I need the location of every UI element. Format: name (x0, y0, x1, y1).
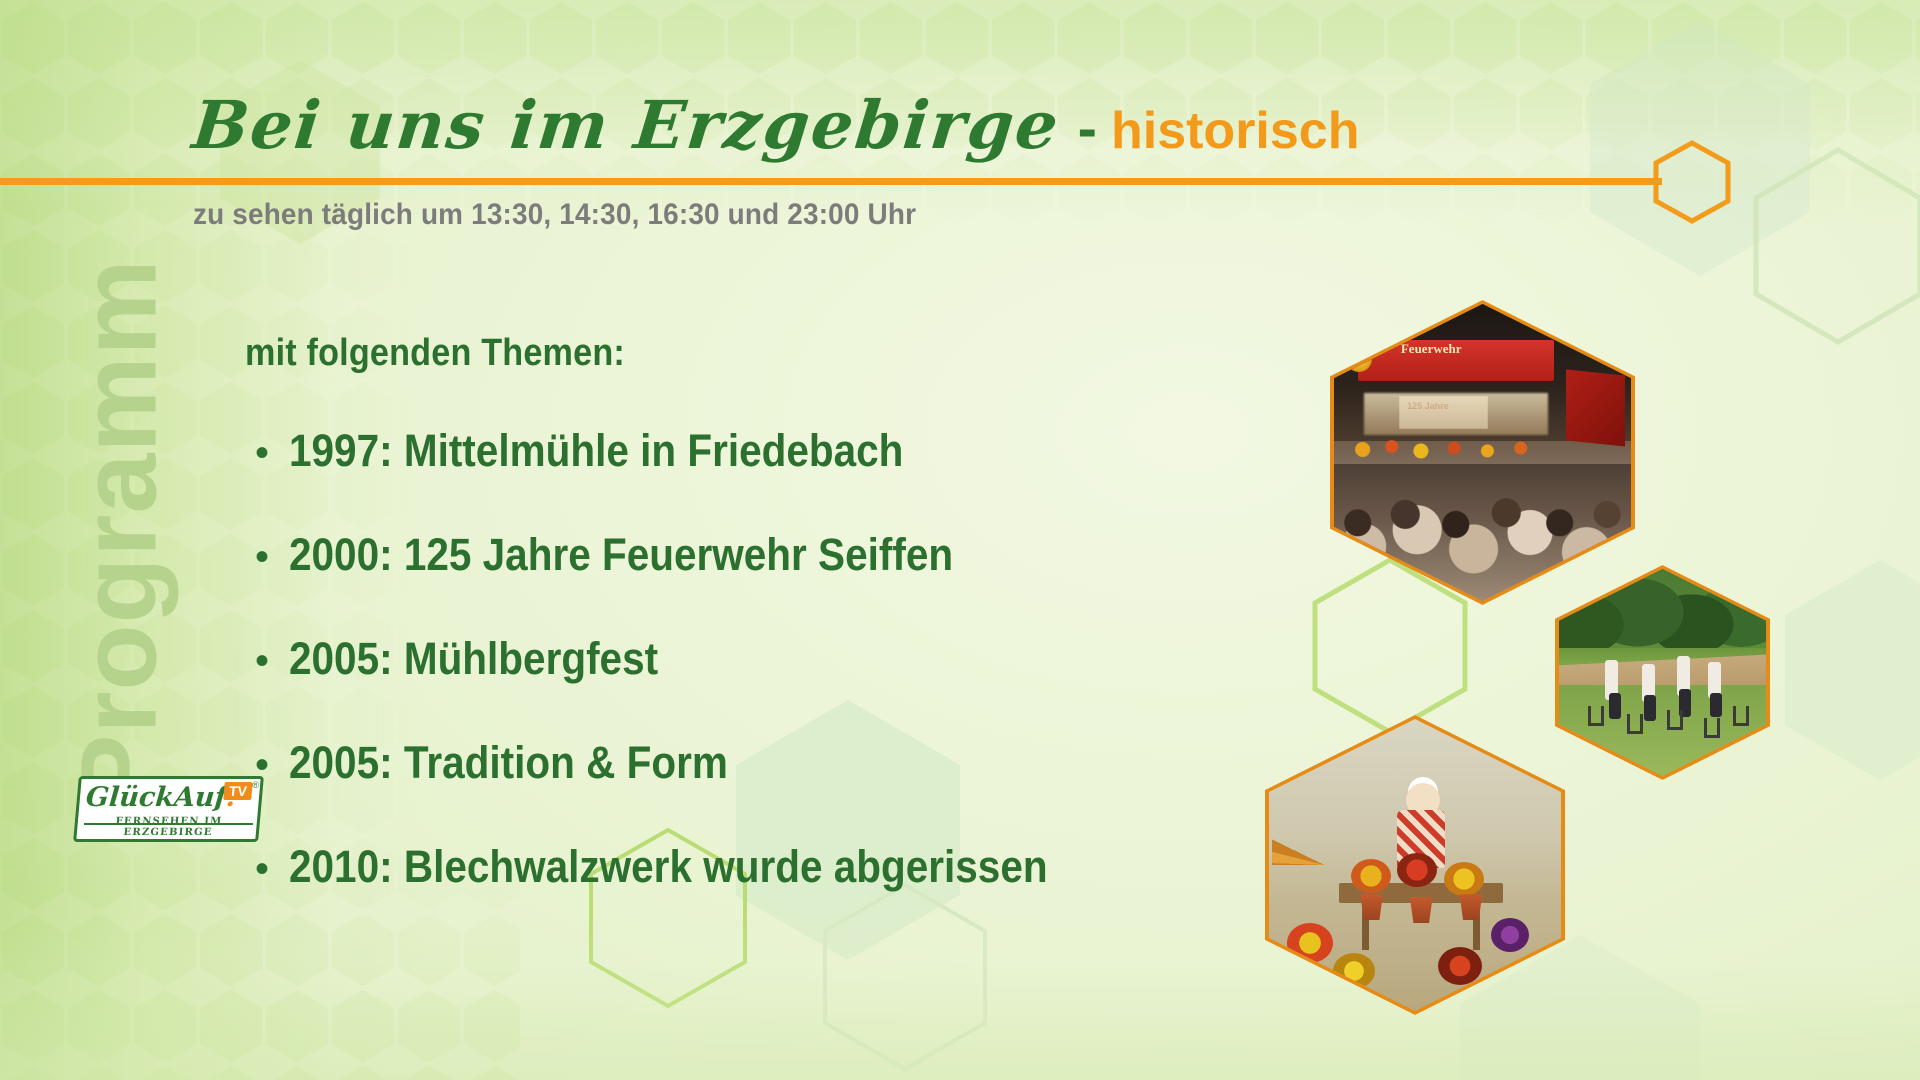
list-item: • 2010: Blechwalzwerk wurde abgerissen (255, 841, 1305, 945)
logo-tagline: FERNSEHEN IM ERZGEBIRGE (75, 816, 262, 838)
photo-banner-text: Feuerwehr (1401, 341, 1462, 357)
list-item: • 2005: Mühlbergfest (255, 633, 1305, 737)
photo-craft-flowers (1265, 715, 1565, 1015)
logo-word-glueck: GlückAuf (85, 782, 228, 813)
topics-list: • 1997: Mittelmühle in Friedebach • 2000… (255, 425, 1305, 945)
photo-outdoor-dancers (1555, 565, 1770, 780)
title-dash: - (1060, 95, 1111, 162)
photo-feuerwehr-hall: Feuerwehr 125 Jahre (1330, 300, 1635, 605)
channel-logo[interactable]: GlückAuf! TV ® FERNSEHEN IM ERZGEBIRGE (76, 776, 261, 842)
hex-inner (1559, 569, 1766, 776)
list-item: • 1997: Mittelmühle in Friedebach (255, 425, 1305, 529)
broadcast-times-subtitle: zu sehen täglich um 13:30, 14:30, 16:30 … (193, 198, 916, 232)
bullet-glyph: • (255, 433, 289, 473)
logo-tv-badge: TV (223, 782, 252, 800)
photo-content: Feuerwehr 125 Jahre (1334, 304, 1631, 601)
hexagon-outline-icon (1650, 140, 1734, 224)
photo-content (1269, 719, 1561, 1011)
bullet-glyph: • (255, 641, 289, 681)
header-rule (0, 178, 1662, 185)
list-item: • 2000: 125 Jahre Feuerwehr Seiffen (255, 529, 1305, 633)
logo-wordmark: GlückAuf! (85, 782, 240, 813)
photo-banner: Feuerwehr (1358, 340, 1554, 382)
list-item-label: 2000: 125 Jahre Feuerwehr Seiffen (289, 529, 953, 581)
topics-intro: mit folgenden Themen: (245, 332, 625, 375)
hex-inner (1269, 719, 1561, 1011)
photo-content (1559, 569, 1766, 776)
logo-registered-mark: ® (252, 780, 259, 790)
title-script-part: Bei uns im Erzgebirge (189, 86, 1064, 164)
list-item-label: 2010: Blechwalzwerk wurde abgerissen (289, 841, 1048, 893)
list-item-label: 2005: Mühlbergfest (289, 633, 658, 685)
bullet-glyph: • (255, 537, 289, 577)
list-item-label: 2005: Tradition & Form (289, 737, 728, 789)
page-title: Bei uns im Erzgebirge-historisch (193, 86, 1359, 164)
list-item-label: 1997: Mittelmühle in Friedebach (289, 425, 903, 477)
hex-inner: Feuerwehr 125 Jahre (1334, 304, 1631, 601)
slide-canvas: Programm Bei uns im Erzgebirge-historisc… (0, 0, 1920, 1080)
bullet-glyph: • (255, 849, 289, 889)
list-item: • 2005: Tradition & Form (255, 737, 1305, 841)
title-accent-part: historisch (1111, 101, 1360, 161)
